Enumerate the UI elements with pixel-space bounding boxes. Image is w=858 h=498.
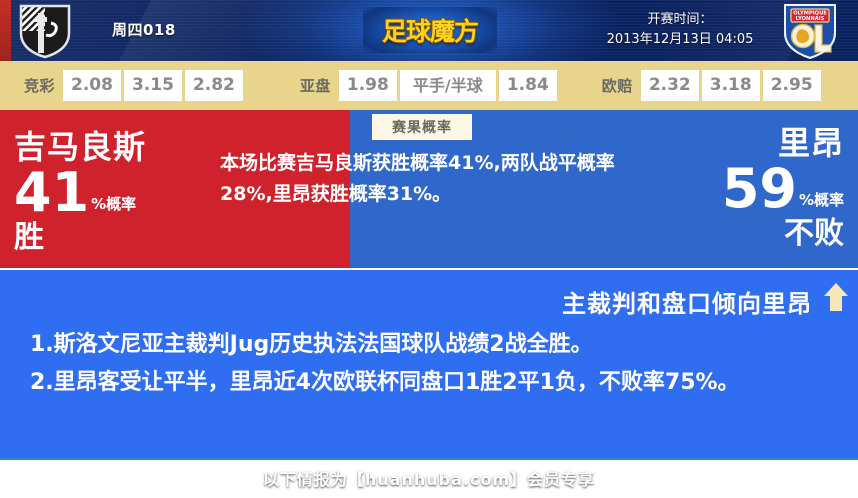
away-probability-outcome: 不败 [784, 218, 844, 250]
away-team-crest-icon: OLYMPIQUE LYONNAIS [781, 3, 839, 59]
odds-bar: 竞彩 2.08 3.15 2.82 亚盘 1.98 平手/半球 1.84 欧赔 … [0, 61, 858, 110]
kickoff-value: 2013年12月13日 04:05 [590, 30, 770, 50]
probability-section: 吉马良斯 41 %概率 胜 里昂 59 %概率 不败 赛果概率 本场比赛吉马良斯… [0, 110, 858, 268]
odds-cell-home[interactable]: 1.98 [339, 70, 397, 101]
odds-group-jingcai: 竞彩 2.08 3.15 2.82 [16, 70, 246, 101]
footer-top-divider [0, 458, 858, 460]
header-red-accent-bar [0, 0, 11, 61]
odds-cell-home[interactable]: 2.32 [641, 70, 699, 101]
odds-cell-home[interactable]: 2.08 [63, 70, 121, 101]
analysis-point: 1.斯洛文尼亚主裁判Jug历史执法法国球队战绩2战全胜。 [30, 326, 830, 364]
odds-group-european: 欧赔 2.32 3.18 2.95 [594, 70, 824, 101]
up-arrow-icon [822, 282, 850, 312]
brand-logo: 足球魔方 [363, 7, 497, 53]
analysis-verdict: 主裁判和盘口倾向里昂 [562, 284, 812, 319]
match-number-label: 周四018 [112, 19, 176, 40]
analysis-point: 2.里昂客受让平半，里昂近4次欧联杯同盘口1胜2平1负，不败率75%。 [30, 364, 830, 402]
away-probability-unit: %概率 [799, 189, 844, 214]
odds-group-label: 亚盘 [292, 75, 339, 96]
odds-cell-handicap[interactable]: 平手/半球 [400, 70, 496, 101]
away-probability-value-row: 59 %概率 [722, 164, 844, 214]
odds-group-asian-handicap: 亚盘 1.98 平手/半球 1.84 [292, 70, 560, 101]
home-team-crest-icon [18, 3, 72, 59]
odds-group-label: 竞彩 [16, 75, 63, 96]
odds-cell-away[interactable]: 1.84 [499, 70, 557, 101]
odds-cell-draw[interactable]: 3.15 [124, 70, 182, 101]
svg-text:LYONNAIS: LYONNAIS [796, 16, 825, 22]
home-probability-unit: %概率 [91, 193, 136, 218]
probability-section-tab: 赛果概率 [372, 114, 472, 140]
match-header: 周四018 足球魔方 开赛时间： 2013年12月13日 04:05 OLYMP… [0, 0, 858, 61]
footer-bar: 以下情报为【huanhuba.com】会员专享 [0, 458, 858, 498]
home-team-name: 吉马良斯 [14, 130, 146, 164]
footer-membership-notice: 以下情报为【huanhuba.com】会员专享 [263, 466, 595, 490]
home-probability-value-row: 41 %概率 [14, 168, 136, 218]
probability-summary-text: 本场比赛吉马良斯获胜概率41%,两队战平概率28%,里昂获胜概率31%。 [220, 148, 640, 210]
analysis-section: 主裁判和盘口倾向里昂 1.斯洛文尼亚主裁判Jug历史执法法国球队战绩2战全胜。 … [0, 270, 858, 458]
odds-group-label: 欧赔 [594, 75, 641, 96]
kickoff-label: 开赛时间： [590, 10, 770, 30]
home-probability-outcome: 胜 [14, 222, 44, 254]
brand-logo-text: 足球魔方 [382, 12, 478, 48]
match-preview-card: 周四018 足球魔方 开赛时间： 2013年12月13日 04:05 OLYMP… [0, 0, 858, 498]
analysis-points-list: 1.斯洛文尼亚主裁判Jug历史执法法国球队战绩2战全胜。 2.里昂客受让平半，里… [30, 326, 830, 402]
odds-cell-away[interactable]: 2.95 [763, 70, 821, 101]
kickoff-time-block: 开赛时间： 2013年12月13日 04:05 [590, 10, 770, 50]
away-probability-value: 59 [722, 164, 797, 214]
home-probability-value: 41 [14, 168, 89, 218]
away-team-name: 里昂 [778, 126, 844, 160]
odds-cell-away[interactable]: 2.82 [185, 70, 243, 101]
odds-cell-draw[interactable]: 3.18 [702, 70, 760, 101]
